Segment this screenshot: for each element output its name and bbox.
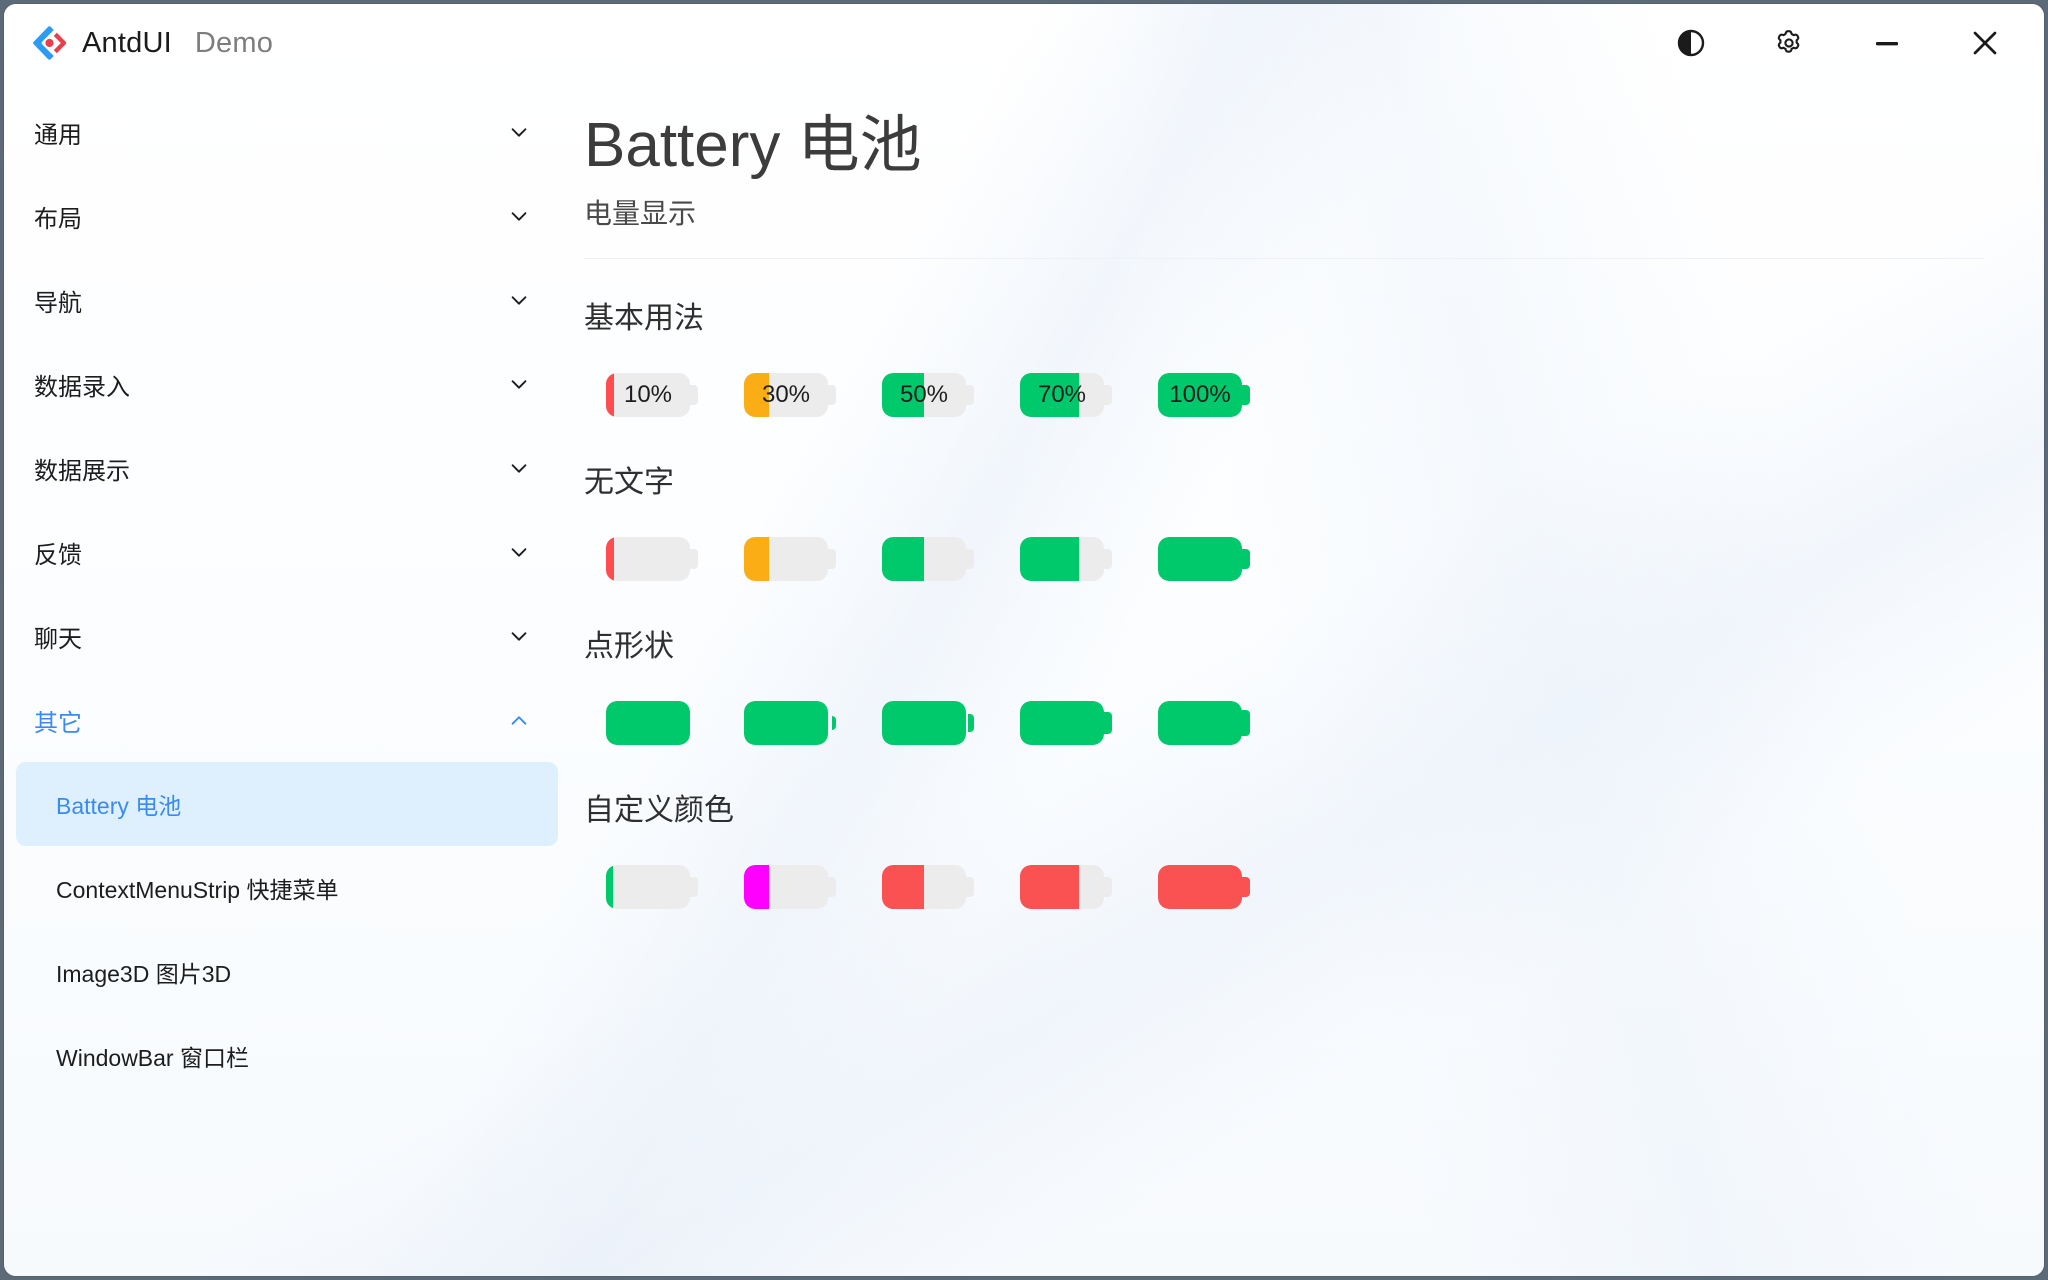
sidebar-group-label: 通用 [34,115,82,150]
battery-fill [606,701,690,745]
battery-body: 50% [882,373,966,417]
battery-fill [882,701,966,745]
section-title: 无文字 [584,457,1984,501]
battery-body [744,701,828,745]
battery-cap [1104,877,1112,897]
sidebar-group-label: 数据展示 [34,451,130,486]
sidebar[interactable]: 通用布局导航数据录入数据展示反馈聊天其它Battery 电池ContextMen… [4,82,570,1276]
battery-cap [966,549,974,569]
battery-cap [1242,549,1250,569]
battery-cap [966,385,974,405]
battery-fill [744,701,828,745]
battery-cap [966,877,974,897]
app-brand: AntdUI Demo [30,24,273,62]
sidebar-item-label: Image3D 图片3D [56,955,231,989]
battery-fill [882,865,924,909]
gear-icon [1773,27,1805,59]
demo-section-0: 基本用法10%30%50%70%100% [584,293,1984,423]
battery-indicator: 70% [1020,373,1112,417]
minimize-icon [1870,26,1904,60]
battery-fill [744,865,769,909]
battery-body [1158,701,1242,745]
battery-label: 70% [1038,383,1086,407]
sidebar-group-label: 其它 [34,703,82,738]
battery-indicator [882,537,974,581]
battery-cap [1242,385,1250,405]
battery-indicator [1158,537,1250,581]
battery-body [744,865,828,909]
battery-row [584,695,1984,751]
battery-row [584,859,1984,915]
battery-fill [606,373,614,417]
chevron-down-icon[interactable] [508,205,530,227]
battery-body: 10% [606,373,690,417]
app-title-suffix: Demo [195,27,273,60]
sidebar-group-0[interactable]: 通用 [4,90,570,174]
battery-indicator: 10% [606,373,698,417]
sidebar-item-0[interactable]: Battery 电池 [16,762,558,846]
battery-indicator [882,865,974,909]
battery-cap [828,549,836,569]
battery-fill [606,865,613,909]
battery-cap [828,877,836,897]
chevron-down-icon[interactable] [508,541,530,563]
battery-body [882,701,966,745]
antdui-logo-icon [30,24,68,62]
battery-body: 70% [1020,373,1104,417]
battery-indicator [744,865,836,909]
battery-indicator [744,701,836,745]
sidebar-group-4[interactable]: 数据展示 [4,426,570,510]
demo-section-2: 点形状 [584,621,1984,751]
sidebar-group-label: 导航 [34,283,82,318]
battery-indicator [606,537,698,581]
battery-indicator [744,537,836,581]
battery-fill [744,537,769,581]
battery-fill [606,537,614,581]
chevron-down-icon[interactable] [508,289,530,311]
battery-fill [1020,537,1079,581]
chevron-down-icon[interactable] [508,625,530,647]
battery-fill [1020,865,1079,909]
battery-indicator: 50% [882,373,974,417]
chevron-down-icon[interactable] [508,121,530,143]
demo-section-1: 无文字 [584,457,1984,587]
battery-body [1158,865,1242,909]
title-bar: AntdUI Demo [4,4,2044,82]
battery-body [1020,537,1104,581]
battery-body: 30% [744,373,828,417]
page-subtitle: 电量显示 [584,192,1984,232]
battery-fill [1158,537,1242,581]
battery-indicator [1158,865,1250,909]
battery-cap [1104,385,1112,405]
battery-cap [1104,549,1112,569]
close-button[interactable] [1952,4,2018,82]
battery-body [882,865,966,909]
sidebar-group-label: 布局 [34,199,82,234]
minimize-button[interactable] [1854,4,1920,82]
battery-label: 30% [762,383,810,407]
battery-fill [1020,701,1104,745]
battery-cap [1240,710,1250,736]
battery-indicator: 100% [1158,373,1250,417]
demo-section-3: 自定义颜色 [584,785,1984,915]
battery-body: 100% [1158,373,1242,417]
battery-cap [690,385,698,405]
battery-body [1158,537,1242,581]
header-divider [584,258,1984,259]
battery-row: 10%30%50%70%100% [584,367,1984,423]
sidebar-group-3[interactable]: 数据录入 [4,342,570,426]
window-controls [1658,4,2044,82]
battery-cap [690,549,698,569]
app-body: 通用布局导航数据录入数据展示反馈聊天其它Battery 电池ContextMen… [4,82,2044,1276]
sidebar-item-label: WindowBar 窗口栏 [56,1039,249,1073]
chevron-up-icon[interactable] [508,709,530,731]
battery-body [606,701,690,745]
close-icon [1967,25,2003,61]
sidebar-item-1[interactable]: ContextMenuStrip 快捷菜单 [16,846,558,930]
battery-body [882,537,966,581]
battery-indicator [1020,701,1112,745]
sidebar-group-label: 反馈 [34,535,82,570]
sidebar-group-label: 数据录入 [34,367,130,402]
battery-fill [1158,865,1242,909]
sidebar-group-2[interactable]: 导航 [4,258,570,342]
battery-indicator [1158,701,1250,745]
battery-fill [882,537,924,581]
battery-label: 100% [1169,383,1230,407]
sidebar-item-3[interactable]: WindowBar 窗口栏 [16,1014,558,1098]
app-window: AntdUI Demo [4,4,2044,1276]
sidebar-item-label: Battery 电池 [56,787,181,821]
theme-toggle-button[interactable] [1658,4,1724,82]
section-title: 自定义颜色 [584,785,1984,829]
page-title: Battery 电池 [584,112,1984,180]
demo-sections: 基本用法10%30%50%70%100%无文字点形状自定义颜色 [584,293,1984,915]
sidebar-item-label: ContextMenuStrip 快捷菜单 [56,871,338,905]
section-title: 基本用法 [584,293,1984,337]
battery-body [1020,701,1104,745]
battery-indicator [606,701,698,745]
battery-row [584,531,1984,587]
settings-button[interactable] [1756,4,1822,82]
battery-indicator [1020,865,1112,909]
sidebar-item-2[interactable]: Image3D 图片3D [16,930,558,1014]
section-title: 点形状 [584,621,1984,665]
sidebar-group-5[interactable]: 反馈 [4,510,570,594]
battery-indicator [882,701,974,745]
battery-label: 50% [900,383,948,407]
battery-cap [1242,877,1250,897]
battery-body [744,537,828,581]
battery-cap [1104,712,1112,734]
battery-fill [1158,701,1242,745]
battery-cap [968,714,974,732]
sidebar-group-label: 聊天 [34,619,82,654]
app-title: AntdUI [82,27,172,60]
battery-indicator [606,865,698,909]
contrast-circle-icon [1676,28,1706,58]
battery-body [606,537,690,581]
battery-cap [690,877,698,897]
battery-cap [828,385,836,405]
battery-indicator: 30% [744,373,836,417]
sidebar-group-7[interactable]: 其它 [4,678,570,762]
chevron-down-icon[interactable] [508,373,530,395]
main-content: Battery 电池 电量显示 基本用法10%30%50%70%100%无文字点… [570,82,2044,1276]
sidebar-group-6[interactable]: 聊天 [4,594,570,678]
chevron-down-icon[interactable] [508,457,530,479]
battery-cap [832,716,836,730]
battery-body [1020,865,1104,909]
sidebar-group-1[interactable]: 布局 [4,174,570,258]
battery-indicator [1020,537,1112,581]
battery-body [606,865,690,909]
battery-label: 10% [624,383,672,407]
